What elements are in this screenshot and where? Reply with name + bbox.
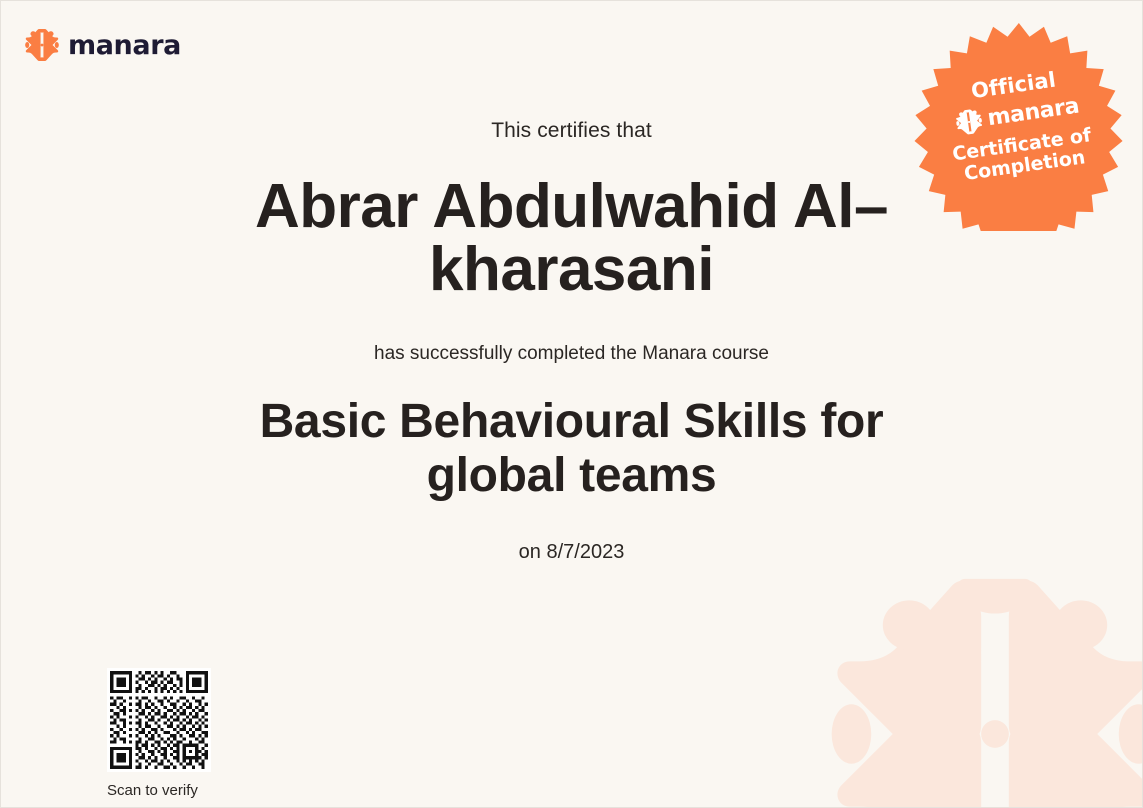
seal-starburst-icon xyxy=(915,23,1123,231)
verification-block: Scan to verify xyxy=(107,668,211,799)
course-title: Basic Behavioural Skills for global team… xyxy=(222,395,922,503)
qr-code-icon[interactable] xyxy=(107,668,211,772)
official-seal: Official xyxy=(914,19,1124,231)
brand-logo: manara xyxy=(25,28,181,62)
manara-floral-watermark-icon xyxy=(830,569,1143,808)
certifies-lead-text: This certifies that xyxy=(491,119,652,143)
scan-to-verify-label: Scan to verify xyxy=(107,782,198,799)
recipient-name: Abrar Abdulwahid Al–kharasani xyxy=(252,175,892,301)
brand-wordmark: manara xyxy=(68,32,181,59)
certificate-page: manara Official xyxy=(0,0,1143,808)
completion-statement: has successfully completed the Manara co… xyxy=(374,343,769,365)
manara-floral-mark-icon xyxy=(25,28,59,62)
completion-date: on 8/7/2023 xyxy=(519,541,625,564)
